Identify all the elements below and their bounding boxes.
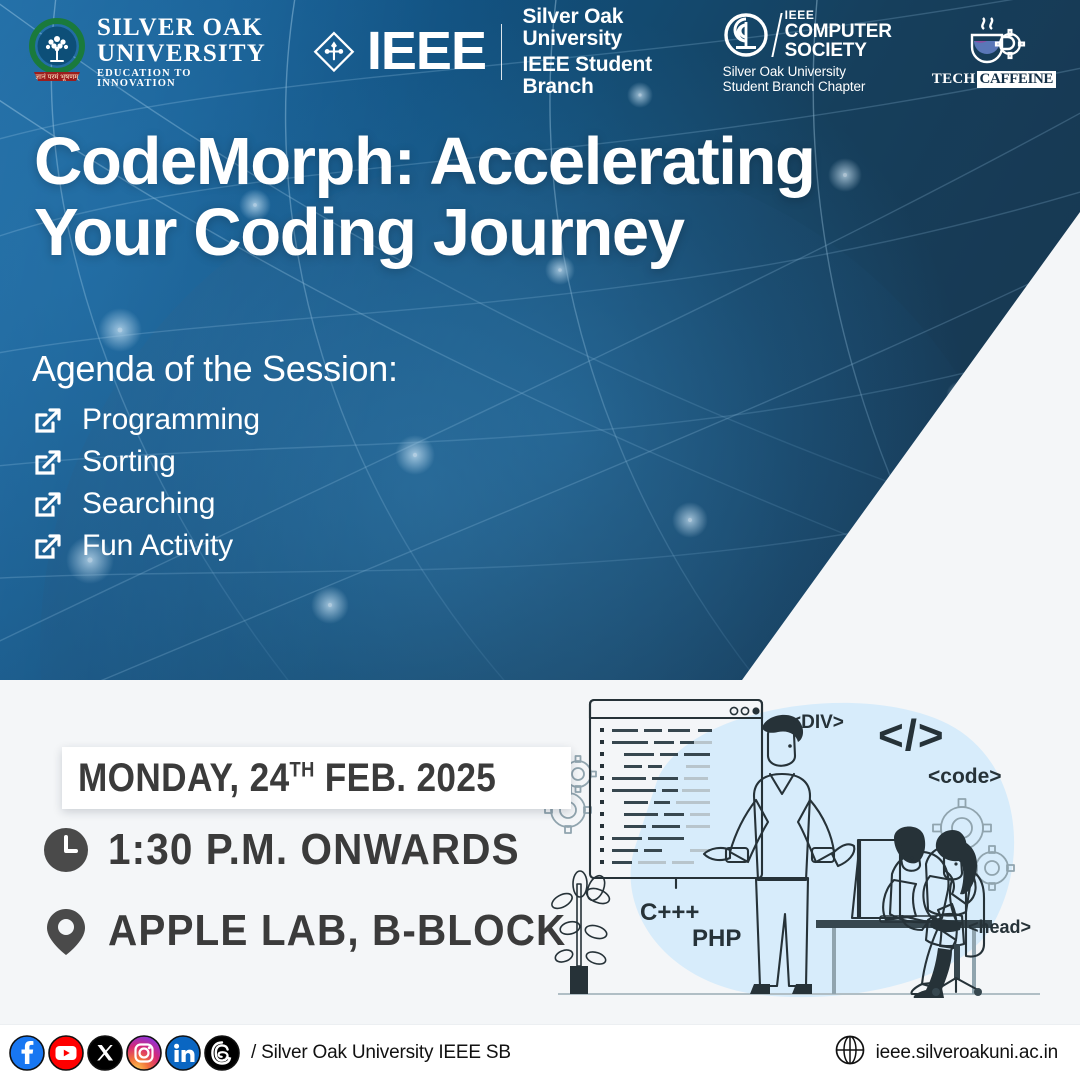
agenda-heading: Agenda of the Session: <box>32 348 398 390</box>
svg-text:ज्ञानं परमं भूषणम्: ज्ञानं परमं भूषणम् <box>36 73 80 81</box>
cs-sub-line-2: Student Branch Chapter <box>723 79 892 94</box>
cpp-label: C+++ <box>640 899 699 926</box>
date-suffix: FEB. 2025 <box>315 756 497 800</box>
event-time-text: 1:30 P.M. ONWARDS <box>108 825 520 875</box>
sou-line-1: SILVER OAK <box>97 15 266 40</box>
silver-oak-crest-icon: ज्ञानं परमं भूषणम् <box>26 18 88 86</box>
cs-society-label: SOCIETY <box>785 41 892 60</box>
tc-mid: ECH <box>942 71 975 88</box>
ieee-branch-line-1: Silver Oak University <box>522 6 678 50</box>
sou-line-2: UNIVERSITY <box>97 41 266 66</box>
linkedin-icon[interactable] <box>164 1034 202 1072</box>
ieee-computer-society-logo: IEEE COMPUTER SOCIETY Silver Oak Univers… <box>723 9 892 94</box>
globe-icon <box>834 1034 866 1071</box>
footer-bar: / Silver Oak University IEEE SB ieee.sil… <box>0 1024 1080 1080</box>
youtube-icon[interactable] <box>47 1034 85 1072</box>
agenda-item-label: Sorting <box>82 447 176 477</box>
event-venue-row: APPLE LAB, B-BLOCK <box>40 905 606 957</box>
agenda-item-label: Searching <box>82 489 215 519</box>
cs-sub-line-1: Silver Oak University <box>723 64 892 79</box>
event-venue-text: APPLE LAB, B-BLOCK <box>108 906 566 956</box>
event-time-row: 1:30 P.M. ONWARDS <box>40 824 555 876</box>
sou-tagline: EDUCATION TO INNOVATION <box>97 69 266 90</box>
date-ordinal: TH <box>290 759 315 782</box>
coffee-cup-gear-icon <box>958 17 1030 69</box>
external-link-icon <box>32 404 64 436</box>
logo-bar: ज्ञानं परमं भूषणम् SILVER OAK UNIVERSITY… <box>0 0 1080 104</box>
cs-ieee-label: IEEE <box>785 9 892 21</box>
external-link-icon <box>32 446 64 478</box>
ieee-divider <box>501 24 503 80</box>
event-poster: ज्ञानं परमं भूषणम् SILVER OAK UNIVERSITY… <box>0 0 1080 1080</box>
tc-highlight: CAFFEINE <box>977 71 1056 88</box>
ieee-diamond-icon <box>312 23 356 81</box>
facebook-icon[interactable] <box>8 1034 46 1072</box>
external-link-icon <box>32 488 64 520</box>
code-symbol-label: </> <box>878 711 945 760</box>
external-link-icon <box>32 530 64 562</box>
agenda-item-label: Fun Activity <box>82 531 233 561</box>
head-tag-label: <head> <box>968 917 1031 937</box>
social-links: / Silver Oak University IEEE SB <box>8 1034 511 1072</box>
title-line-1: CodeMorph: Accelerating <box>34 126 994 197</box>
event-date-band: MONDAY, 24TH FEB. 2025 <box>62 747 571 809</box>
date-prefix: MONDAY, 24 <box>78 756 290 800</box>
instagram-icon[interactable] <box>125 1034 163 1072</box>
x-twitter-icon[interactable] <box>86 1034 124 1072</box>
ieee-branch-line-2: IEEE Student Branch <box>522 54 678 98</box>
tc-prefix: T <box>932 71 942 88</box>
poster-title: CodeMorph: Accelerating Your Coding Jour… <box>34 126 994 268</box>
event-date-text: MONDAY, 24TH FEB. 2025 <box>78 756 496 801</box>
code-tag-label: <code> <box>928 765 1002 788</box>
computer-society-slash <box>771 13 782 57</box>
tech-caffeine-logo: TECHCAFFEINE <box>932 17 1056 88</box>
website-url: ieee.silveroakuni.ac.in <box>876 1042 1058 1064</box>
agenda-item-sorting: Sorting <box>32 446 398 478</box>
computer-society-emblem-icon <box>723 12 769 58</box>
ieee-wordmark: IEEE <box>367 30 486 73</box>
clock-icon <box>40 824 92 876</box>
agenda-item-label: Programming <box>82 405 260 435</box>
div-tag-label: <DIV> <box>790 712 844 733</box>
coding-team-illustration: .ol{fill:none;stroke:#263238;stroke-widt… <box>540 688 1052 1018</box>
agenda-item-searching: Searching <box>32 488 398 520</box>
tech-caffeine-wordmark: TECHCAFFEINE <box>932 71 1056 88</box>
map-pin-icon <box>40 905 92 957</box>
php-label: PHP <box>692 925 741 952</box>
social-handle: / Silver Oak University IEEE SB <box>251 1042 511 1064</box>
agenda-list: Programming Sorting <box>32 404 398 562</box>
agenda-item-programming: Programming <box>32 404 398 436</box>
agenda-section: Agenda of the Session: Programming <box>32 348 398 562</box>
website-link[interactable]: ieee.silveroakuni.ac.in <box>834 1034 1058 1071</box>
agenda-item-fun-activity: Fun Activity <box>32 530 398 562</box>
cs-computer-label: COMPUTER <box>785 22 892 41</box>
ieee-logo: IEEE Silver Oak University IEEE Student … <box>312 6 679 97</box>
threads-icon[interactable] <box>203 1034 241 1072</box>
silver-oak-university-logo: ज्ञानं परमं भूषणम् SILVER OAK UNIVERSITY… <box>26 15 266 90</box>
title-line-2: Your Coding Journey <box>34 197 994 268</box>
